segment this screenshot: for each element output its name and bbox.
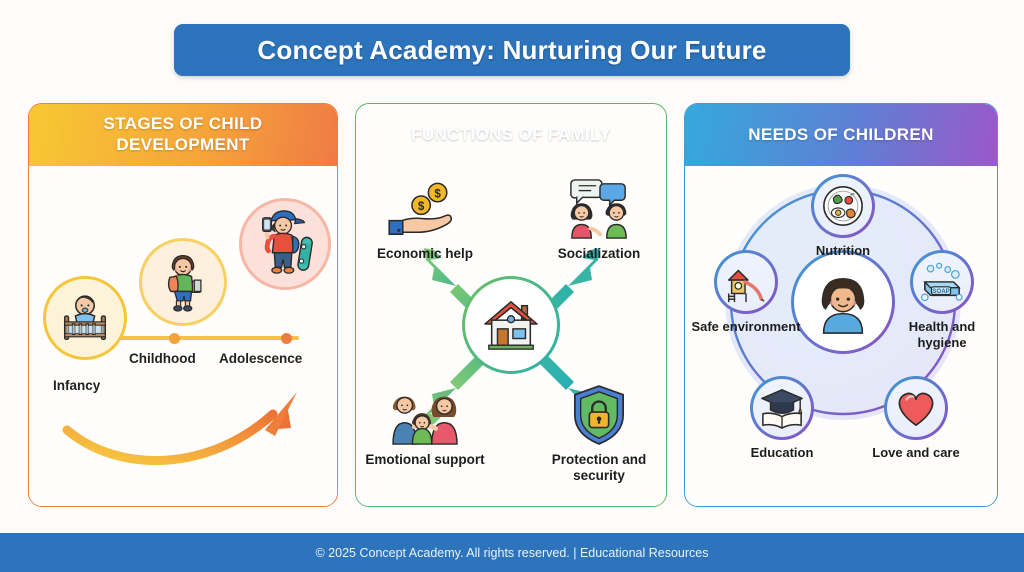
teen-skateboard-icon: [239, 198, 331, 290]
need-item-safe-environment[interactable]: Safe environment: [687, 250, 805, 335]
panel-header-label: STAGES OF CHILD DEVELOPMENT: [43, 114, 323, 155]
child-avatar-icon: [791, 250, 895, 354]
family-function-label: Socialization: [538, 246, 660, 262]
playground-slide-icon: [714, 250, 778, 314]
plate-of-food-icon: [811, 174, 875, 238]
need-label: Safe environment: [687, 319, 805, 335]
panel-needs-of-children: NEEDS OF CHILDREN: [684, 103, 998, 507]
family-function-label: Economic help: [364, 246, 486, 262]
panel-header-label: NEEDS OF CHILDREN: [748, 125, 933, 146]
two-people-talking-icon: [538, 178, 660, 240]
panel-stages-of-child-development: STAGES OF CHILD DEVELOPMENT: [28, 103, 338, 507]
panel-body-needs: Nutrition SOAP: [685, 166, 997, 507]
infographic-page: Concept Academy: Nurturing Our Future ST…: [0, 0, 1024, 572]
page-title: Concept Academy: Nurturing Our Future: [257, 35, 766, 66]
family-function-emotional-support[interactable]: Emotional support: [364, 384, 486, 468]
need-label: Love and care: [857, 445, 975, 461]
shield-lock-icon: [538, 384, 660, 446]
panel-header-stages: STAGES OF CHILD DEVELOPMENT: [29, 104, 337, 166]
family-function-label: Emotional support: [364, 452, 486, 468]
page-footer: © 2025 Concept Academy. All rights reser…: [0, 533, 1024, 572]
baby-in-crib-icon: [43, 276, 127, 360]
need-item-nutrition[interactable]: Nutrition: [784, 174, 902, 259]
need-item-health-and-hygiene[interactable]: SOAP Health and hygiene: [883, 250, 998, 350]
svg-text:SOAP: SOAP: [932, 288, 950, 295]
footer-text: © 2025 Concept Academy. All rights reser…: [316, 546, 709, 560]
heart-icon: [884, 376, 948, 440]
family-function-socialization[interactable]: Socialization: [538, 178, 660, 262]
house-icon: [462, 276, 560, 374]
panel-functions-of-family: FUNCTIONS OF FAMILY: [355, 103, 667, 507]
svg-text:$: $: [434, 187, 441, 200]
panel-header-needs: NEEDS OF CHILDREN: [685, 104, 997, 166]
upward-growth-arrow-icon: [59, 378, 329, 488]
soap-bar-icon: SOAP: [910, 250, 974, 314]
stage-label: Adolescence: [219, 351, 302, 366]
schoolboy-icon: [139, 238, 227, 326]
panel-header-family: FUNCTIONS OF FAMILY: [356, 104, 666, 166]
need-label: Education: [723, 445, 841, 461]
need-item-love-and-care[interactable]: Love and care: [857, 376, 975, 461]
panel-body-family: $ $ Economic help: [356, 166, 666, 507]
need-item-education[interactable]: Education: [723, 376, 841, 461]
need-label: Health and hygiene: [883, 319, 998, 350]
timeline-dot-childhood: [169, 333, 180, 344]
panel-header-label: FUNCTIONS OF FAMILY: [411, 125, 611, 146]
family-function-economic-help[interactable]: $ $ Economic help: [364, 178, 486, 262]
family-function-label: Protection and security: [538, 452, 660, 484]
stage-label: Childhood: [129, 351, 196, 366]
svg-text:$: $: [418, 200, 425, 213]
family-hug-icon: [364, 384, 486, 446]
graduation-cap-book-icon: [750, 376, 814, 440]
family-function-protection-and-security[interactable]: Protection and security: [538, 384, 660, 484]
panel-body-stages: Infancy: [29, 166, 337, 507]
hand-with-coins-icon: $ $: [364, 178, 486, 240]
page-title-bar: Concept Academy: Nurturing Our Future: [174, 24, 850, 76]
timeline-dot-adolescence: [281, 333, 292, 344]
